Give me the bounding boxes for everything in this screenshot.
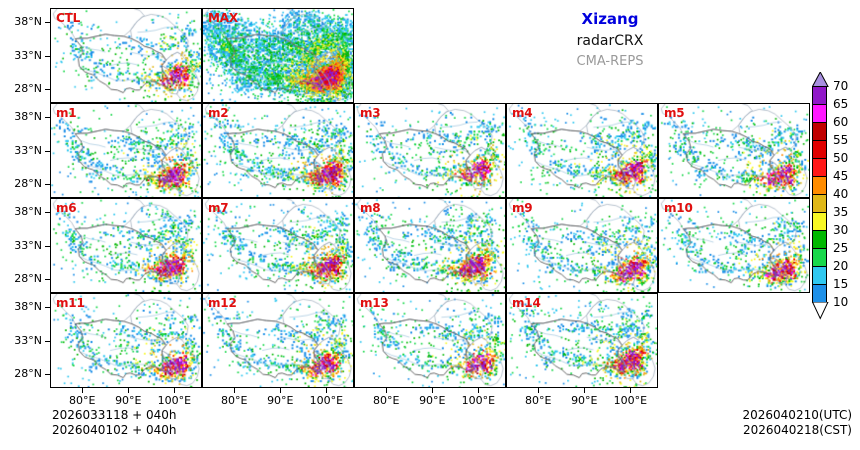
map-panel-m5[interactable]: m5 <box>658 103 810 198</box>
colorbar-band-45 <box>812 158 827 176</box>
map-panel-m11[interactable]: m11 <box>50 293 202 388</box>
lon-tick-mark <box>82 388 83 393</box>
map-panel-m9[interactable]: m9 <box>506 198 658 293</box>
lon-tick-label: 100°E <box>456 394 500 407</box>
panel-label-m2: m2 <box>208 106 228 120</box>
lon-tick-mark <box>174 388 175 393</box>
panel-label-m5: m5 <box>664 106 684 120</box>
lon-tick-label: 80°E <box>60 394 104 407</box>
map-panel-m7[interactable]: m7 <box>202 198 354 293</box>
colorbar-band-10 <box>812 284 827 302</box>
colorbar-band-30 <box>812 212 827 230</box>
lat-tick-mark <box>45 246 50 247</box>
init-time-line-1: 2026033118 + 040h <box>52 408 177 423</box>
lon-tick-mark <box>128 388 129 393</box>
panel-label-m7: m7 <box>208 201 228 215</box>
map-panel-m4[interactable]: m4 <box>506 103 658 198</box>
colorbar-band-35 <box>812 194 827 212</box>
lat-tick-mark <box>45 22 50 23</box>
colorbar-band-15 <box>812 266 827 284</box>
variable-title: radarCRX <box>480 34 740 48</box>
lon-tick-mark <box>280 388 281 393</box>
panel-label-m12: m12 <box>208 296 237 310</box>
lat-tick-label: 28°N <box>0 272 42 285</box>
lat-tick-label: 38°N <box>0 15 42 28</box>
region-title: Xizang <box>480 12 740 27</box>
colorbar-label-10: 10 <box>833 296 848 308</box>
map-panel-max[interactable]: MAX <box>202 8 354 103</box>
lat-tick-label: 28°N <box>0 367 42 380</box>
lat-tick-label: 38°N <box>0 205 42 218</box>
map-panel-m8[interactable]: m8 <box>354 198 506 293</box>
colorbar-label-55: 55 <box>833 134 848 146</box>
colorbar-label-20: 20 <box>833 260 848 272</box>
lon-tick-label: 100°E <box>152 394 196 407</box>
lat-tick-mark <box>45 212 50 213</box>
colorbar-band-25 <box>812 230 827 248</box>
lon-tick-label: 80°E <box>516 394 560 407</box>
map-panel-m2[interactable]: m2 <box>202 103 354 198</box>
lat-tick-mark <box>45 341 50 342</box>
colorbar-label-70: 70 <box>833 80 848 92</box>
lon-tick-label: 90°E <box>410 394 454 407</box>
lat-tick-mark <box>45 307 50 308</box>
panel-label-m4: m4 <box>512 106 532 120</box>
lon-tick-mark <box>630 388 631 393</box>
lat-tick-mark <box>45 89 50 90</box>
colorbar-band-60 <box>812 104 827 122</box>
panel-label-m14: m14 <box>512 296 541 310</box>
lat-tick-mark <box>45 374 50 375</box>
map-panel-m14[interactable]: m14 <box>506 293 658 388</box>
map-panel-m1[interactable]: m1 <box>50 103 202 198</box>
panel-label-m3: m3 <box>360 106 380 120</box>
panel-label-ctl: CTL <box>56 11 80 25</box>
panel-label-m11: m11 <box>56 296 85 310</box>
panel-label-m10: m10 <box>664 201 693 215</box>
lon-tick-label: 80°E <box>364 394 408 407</box>
lon-tick-label: 100°E <box>608 394 652 407</box>
lat-tick-mark <box>45 151 50 152</box>
colorbar-over-arrow-outline <box>812 72 829 88</box>
colorbar-label-15: 15 <box>833 278 848 290</box>
map-panel-m3[interactable]: m3 <box>354 103 506 198</box>
colorbar-label-65: 65 <box>833 98 848 110</box>
colorbar-band-50 <box>812 140 827 158</box>
panel-label-m13: m13 <box>360 296 389 310</box>
lon-tick-label: 80°E <box>212 394 256 407</box>
model-title: CMA-REPS <box>480 55 740 68</box>
title-block: Xizang radarCRX CMA-REPS <box>480 12 740 68</box>
valid-time-utc: 2026040210(UTC) <box>743 408 853 423</box>
colorbar-label-45: 45 <box>833 170 848 182</box>
colorbar-band-65 <box>812 86 827 104</box>
lon-tick-label: 90°E <box>562 394 606 407</box>
panel-label-max: MAX <box>208 11 238 25</box>
colorbar-label-50: 50 <box>833 152 848 164</box>
colorbar-band-20 <box>812 248 827 266</box>
panel-label-m8: m8 <box>360 201 380 215</box>
lon-tick-mark <box>478 388 479 393</box>
colorbar-label-60: 60 <box>833 116 848 128</box>
lat-tick-label: 28°N <box>0 82 42 95</box>
lon-tick-label: 90°E <box>106 394 150 407</box>
lon-tick-mark <box>234 388 235 393</box>
colorbar-label-35: 35 <box>833 206 848 218</box>
lon-tick-mark <box>386 388 387 393</box>
footer-valid-times: 2026040210(UTC) 2026040218(CST) <box>743 408 853 438</box>
lon-tick-label: 90°E <box>258 394 302 407</box>
map-panel-ctl[interactable]: CTL <box>50 8 202 103</box>
lon-tick-mark <box>326 388 327 393</box>
colorbar-band-55 <box>812 122 827 140</box>
map-panel-m10[interactable]: m10 <box>658 198 810 293</box>
lat-tick-label: 33°N <box>0 334 42 347</box>
lon-tick-label: 100°E <box>304 394 348 407</box>
valid-time-cst: 2026040218(CST) <box>743 423 853 438</box>
lat-tick-mark <box>45 117 50 118</box>
colorbar-label-30: 30 <box>833 224 848 236</box>
footer-init-times: 2026033118 + 040h 2026040102 + 040h <box>52 408 177 438</box>
colorbar-under-arrow-outline <box>812 302 829 320</box>
colorbar-band-40 <box>812 176 827 194</box>
colorbar-label-40: 40 <box>833 188 848 200</box>
lat-tick-label: 38°N <box>0 110 42 123</box>
lon-tick-mark <box>432 388 433 393</box>
lat-tick-mark <box>45 279 50 280</box>
panel-label-m6: m6 <box>56 201 76 215</box>
lon-tick-mark <box>538 388 539 393</box>
lat-tick-mark <box>45 184 50 185</box>
panel-label-m9: m9 <box>512 201 532 215</box>
lat-tick-label: 33°N <box>0 144 42 157</box>
colorbar-label-25: 25 <box>833 242 848 254</box>
map-panel-m12[interactable]: m12 <box>202 293 354 388</box>
lon-tick-mark <box>584 388 585 393</box>
lat-tick-label: 38°N <box>0 300 42 313</box>
lat-tick-label: 33°N <box>0 239 42 252</box>
lat-tick-label: 28°N <box>0 177 42 190</box>
map-panel-m13[interactable]: m13 <box>354 293 506 388</box>
lat-tick-label: 33°N <box>0 49 42 62</box>
panel-label-m1: m1 <box>56 106 76 120</box>
lat-tick-mark <box>45 56 50 57</box>
init-time-line-2: 2026040102 + 040h <box>52 423 177 438</box>
map-panel-m6[interactable]: m6 <box>50 198 202 293</box>
